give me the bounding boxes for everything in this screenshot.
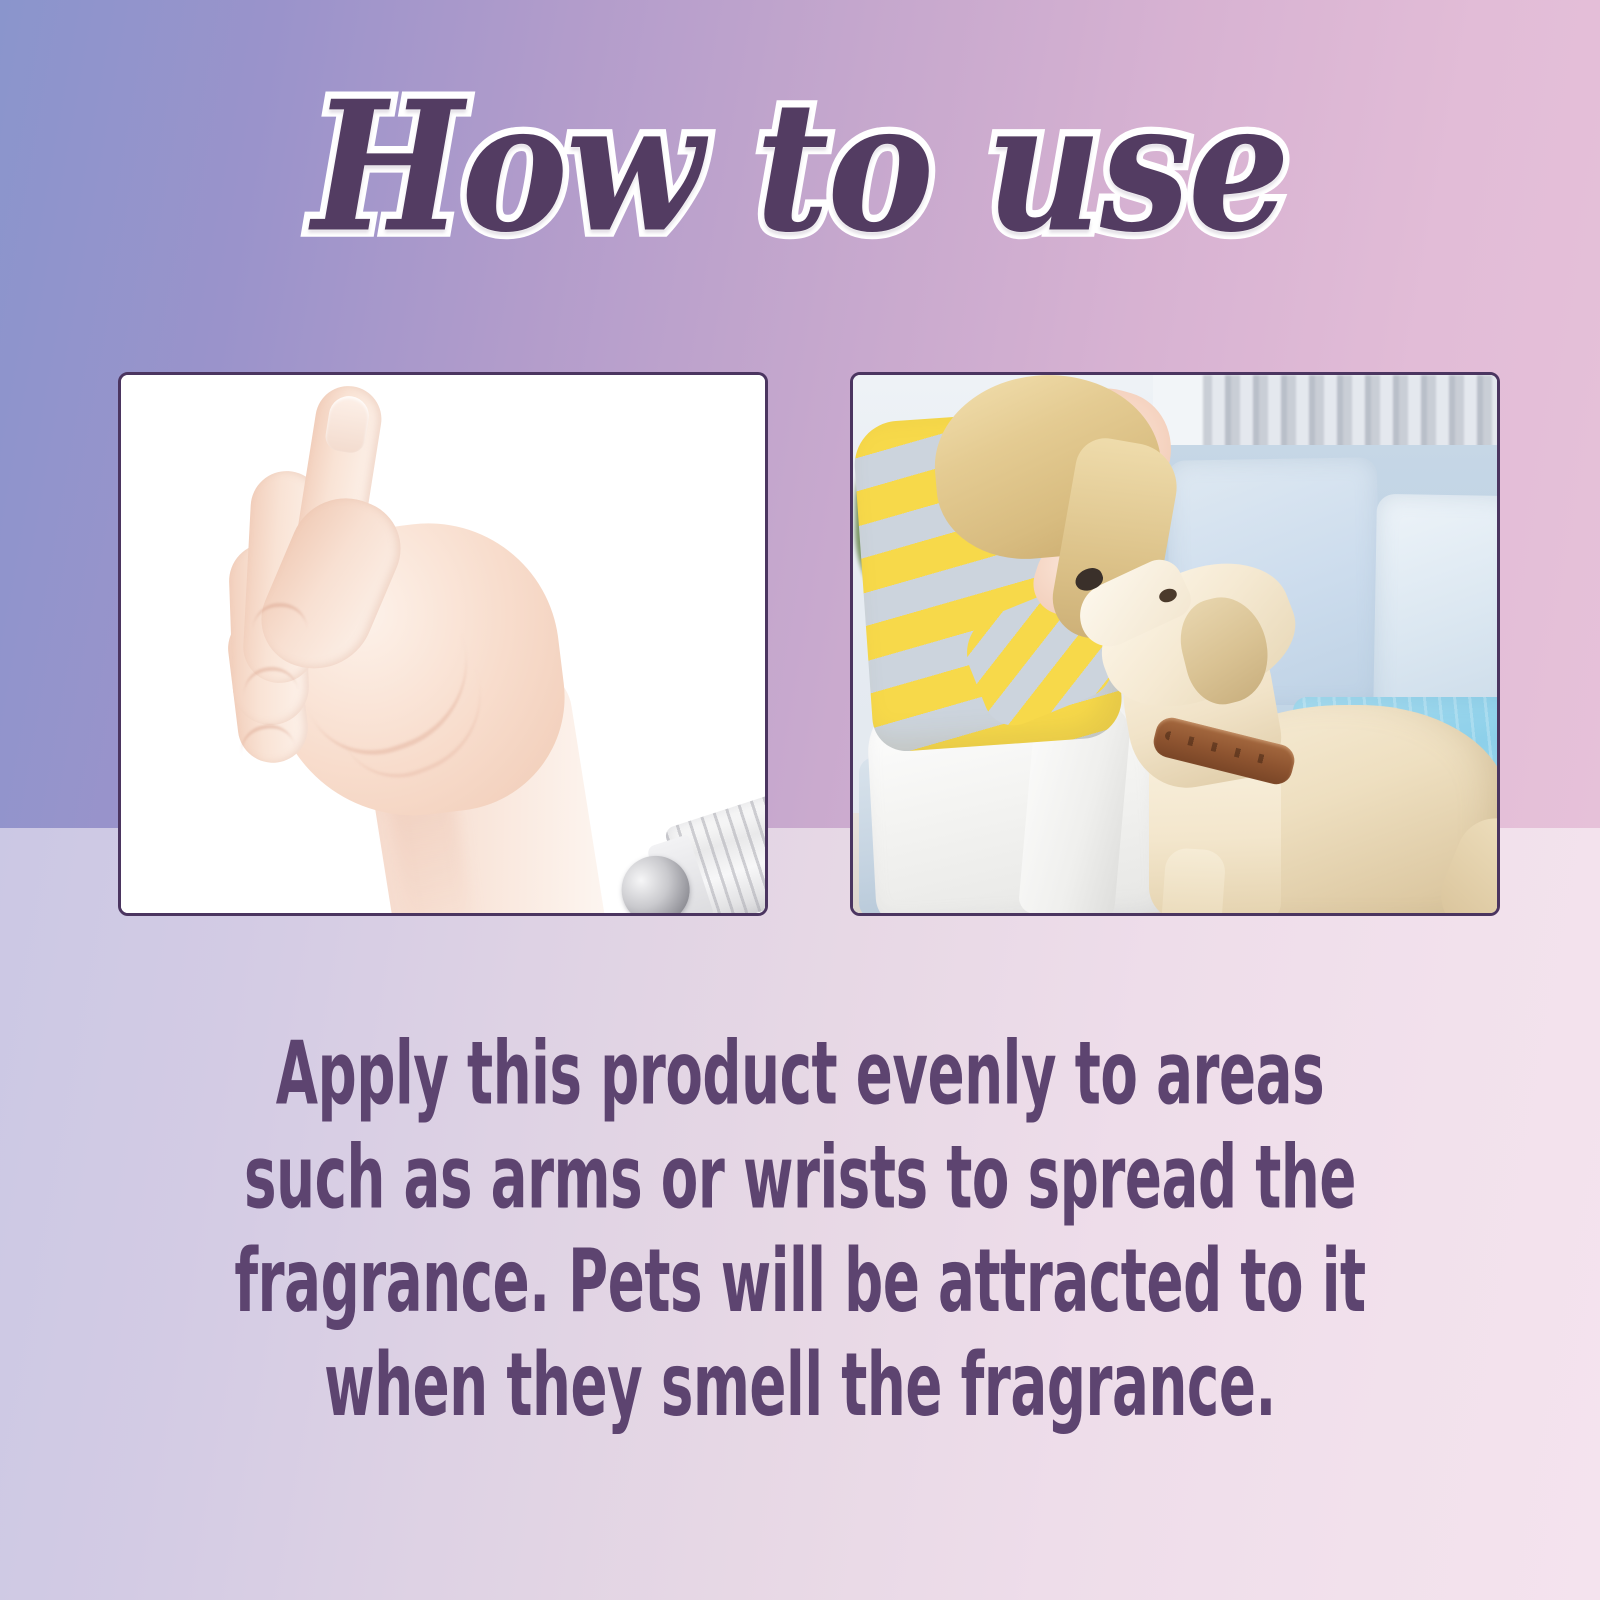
sofa-cushion [1373, 494, 1500, 726]
hand-roller-photo [118, 372, 768, 916]
woman-dog-photo [850, 372, 1500, 916]
how-to-use-infographic: How to use [0, 0, 1600, 1600]
living-room-scene [853, 375, 1497, 913]
title-container: How to use [0, 76, 1600, 239]
hand-scene [121, 375, 765, 913]
dog-leg [1160, 847, 1227, 916]
roller-bottle [603, 776, 768, 916]
page-title: How to use [312, 76, 1288, 259]
fingernail [323, 393, 371, 455]
photo-row [118, 372, 1500, 916]
instruction-text: Apply this product evenly to areas such … [226, 1022, 1374, 1437]
